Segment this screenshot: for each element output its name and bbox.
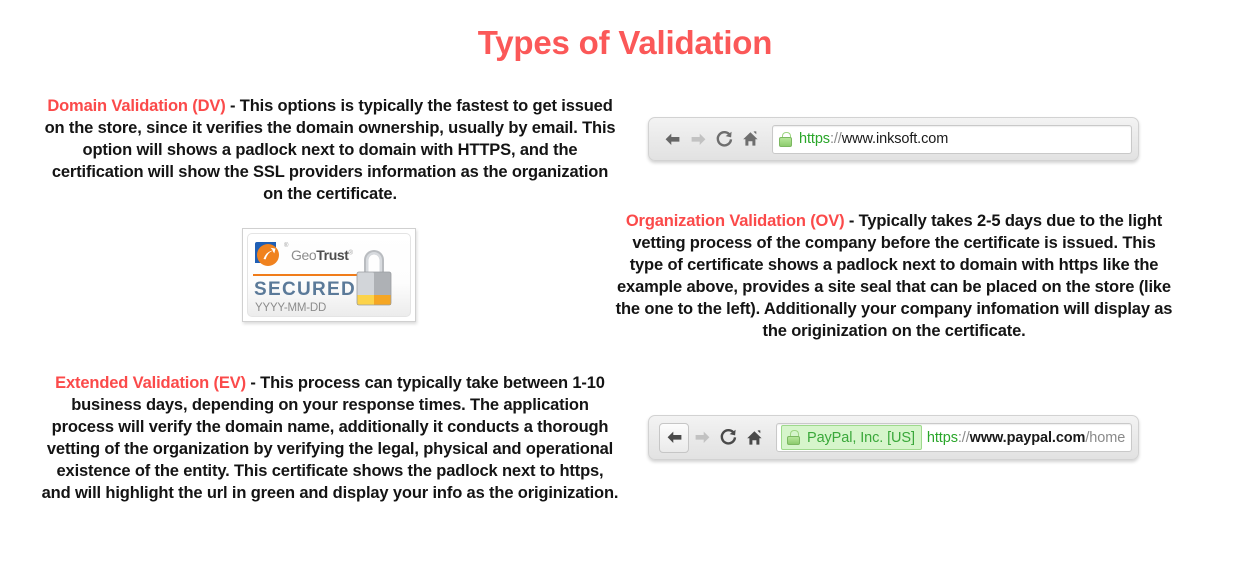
- extended-validation-lead: Extended Validation (EV): [55, 374, 246, 392]
- seal-divider: [253, 274, 363, 276]
- url-host: www.paypal.com: [970, 430, 1086, 446]
- forward-arrow-icon[interactable]: [689, 425, 715, 451]
- url-path: /home: [1085, 430, 1125, 446]
- url-separator: ://: [958, 430, 970, 446]
- brand-trust: Trust: [316, 247, 348, 263]
- domain-validation-lead: Domain Validation (DV): [47, 97, 225, 115]
- domain-validation-paragraph: Domain Validation (DV) - This options is…: [40, 96, 620, 206]
- padlock-icon: [787, 430, 800, 445]
- geotrust-logo: ® GeoTrust®: [254, 241, 353, 268]
- url-separator: ://: [830, 131, 842, 147]
- back-arrow-icon[interactable]: [659, 423, 689, 453]
- extended-validation-body: - This process can typically take betwee…: [42, 374, 619, 502]
- ev-identity-label: PayPal, Inc. [US]: [807, 430, 915, 446]
- brand-geo: Geo: [291, 247, 316, 263]
- url-input-ev[interactable]: PayPal, Inc. [US] https://www.paypal.com…: [776, 423, 1132, 452]
- trademark-symbol: ®: [284, 243, 288, 249]
- url-scheme: https: [927, 430, 958, 446]
- url-scheme: https: [799, 131, 830, 147]
- url-input-dv[interactable]: https://www.inksoft.com: [772, 125, 1132, 154]
- home-icon[interactable]: [741, 425, 767, 451]
- url-host: www.inksoft.com: [842, 131, 948, 147]
- reload-icon[interactable]: [715, 425, 741, 451]
- forward-arrow-icon[interactable]: [685, 126, 711, 152]
- seal-date-text: YYYY-MM-DD: [255, 303, 326, 315]
- reload-icon[interactable]: [711, 126, 737, 152]
- back-arrow-icon[interactable]: [659, 126, 685, 152]
- home-icon[interactable]: [737, 126, 763, 152]
- organization-validation-lead: Organization Validation (OV): [626, 212, 845, 230]
- browser-address-bar-ev: PayPal, Inc. [US] https://www.paypal.com…: [648, 415, 1139, 460]
- extended-validation-paragraph: Extended Validation (EV) - This process …: [40, 373, 620, 505]
- padlock-icon: [779, 132, 792, 147]
- geotrust-mark-icon: ®: [254, 241, 288, 268]
- organization-validation-body: - Typically takes 2-5 days due to the li…: [616, 212, 1173, 340]
- page-title: Types of Validation: [0, 24, 1250, 62]
- seal-status-text: SECURED: [254, 280, 356, 299]
- geotrust-site-seal: ® GeoTrust® SECURED YYYY-MM-DD: [242, 228, 416, 322]
- padlock-icon: [352, 243, 396, 313]
- organization-validation-paragraph: Organization Validation (OV) - Typically…: [614, 211, 1174, 343]
- ev-identity-badge[interactable]: PayPal, Inc. [US]: [781, 425, 922, 450]
- browser-address-bar-dv: https://www.inksoft.com: [648, 117, 1139, 161]
